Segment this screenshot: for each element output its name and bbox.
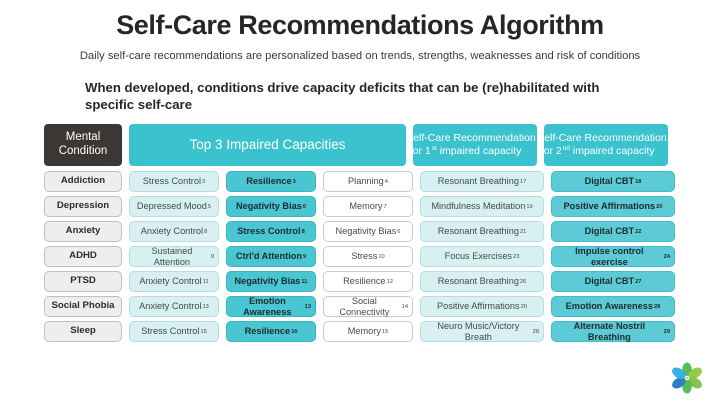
capacity-cell-3[interactable]: Memory7 — [323, 196, 413, 217]
table-row: Social PhobiaAnxiety Control13Emotion Aw… — [44, 296, 684, 317]
cell-label: Stress — [351, 251, 377, 261]
cell-label: Digital CBT — [585, 176, 635, 186]
capacity-cell-3[interactable]: Stress10 — [323, 246, 413, 267]
recommendation-cell-2[interactable]: Digital CBT22 — [551, 221, 675, 242]
capacity-cell-3[interactable]: Planning4 — [323, 171, 413, 192]
cell-label: Anxiety Control — [141, 226, 203, 236]
header-mental-condition-line1: Mental — [66, 131, 101, 143]
header-rec2-line1: Self-Care Recommendation — [537, 132, 667, 144]
capacity-cell-2[interactable]: Emotion Awareness13 — [226, 296, 316, 317]
cell-label: Positive Affirmations — [437, 301, 520, 311]
capacity-cell-3[interactable]: Negativity Bias6 — [323, 221, 413, 242]
table-body: AddictionStress Control3Resilience3Plann… — [44, 171, 684, 342]
cell-label: Impulse control exercise — [556, 246, 663, 267]
recommendation-cell-2[interactable]: Emotion Awareness28 — [551, 296, 675, 317]
condition-cell[interactable]: ADHD — [44, 246, 122, 267]
cell-label: Resilience — [245, 326, 290, 336]
cell-label: Focus Exercises — [445, 251, 512, 261]
cell-label: Neuro Music/Victory Breath — [425, 321, 532, 342]
header-self-care-rec-2: Self-Care Recommendation For 2nd impaire… — [544, 124, 668, 166]
cell-label: Memory — [348, 326, 381, 336]
cell-label: Planning — [348, 176, 384, 186]
recommendation-cell-1[interactable]: Resonant Breathing21 — [420, 221, 544, 242]
cell-label: Sustained Attention — [134, 246, 210, 267]
recommendation-cell-1[interactable]: Resonant Breathing26 — [420, 271, 544, 292]
condition-cell[interactable]: PTSD — [44, 271, 122, 292]
header-mental-condition: Mental Condition — [44, 124, 122, 166]
capacity-cell-2[interactable]: Resilience16 — [226, 321, 316, 342]
cell-label: Alternate Nostril Breathing — [556, 321, 663, 342]
cell-label: Anxiety Control — [139, 301, 201, 311]
capacity-cell-1[interactable]: Anxiety Control8 — [129, 221, 219, 242]
header-rec1-line2: For 1st impaired capacity — [406, 145, 521, 157]
recommendation-cell-1[interactable]: Neuro Music/Victory Breath28 — [420, 321, 544, 342]
cell-label: Negativity Bias — [336, 226, 397, 236]
condition-cell[interactable]: Depression — [44, 196, 122, 217]
header-top-3-impaired-capacities: Top 3 Impaired Capacities — [129, 124, 406, 166]
cell-label: Ctrl'd Attention — [236, 251, 302, 261]
table-row: PTSDAnxiety Control11Negativity Bias11Re… — [44, 271, 684, 292]
recommendation-cell-1[interactable]: Focus Exercises23 — [420, 246, 544, 267]
table-row: DepressionDepressed Mood5Negativity Bias… — [44, 196, 684, 217]
capacity-cell-3[interactable]: Resilience12 — [323, 271, 413, 292]
table-header-row: Mental Condition Top 3 Impaired Capaciti… — [44, 124, 684, 166]
page-subtitle: Daily self-care recommendations are pers… — [0, 50, 720, 62]
table-row: AddictionStress Control3Resilience3Plann… — [44, 171, 684, 192]
section-headline: When developed, conditions drive capacit… — [85, 80, 625, 114]
capacity-cell-1[interactable]: Stress Control15 — [129, 321, 219, 342]
capacity-cell-3[interactable]: Social Connectivity14 — [323, 296, 413, 317]
cell-label: Digital CBT — [585, 276, 635, 286]
capacity-cell-1[interactable]: Sustained Attention9 — [129, 246, 219, 267]
capacity-cell-1[interactable]: Stress Control3 — [129, 171, 219, 192]
cell-label: Negativity Bias — [236, 201, 302, 211]
capacity-cell-1[interactable]: Anxiety Control13 — [129, 296, 219, 317]
flower-petal-logo — [668, 361, 706, 395]
cell-label: Positive Affirmations — [564, 201, 656, 211]
condition-cell[interactable]: Addiction — [44, 171, 122, 192]
capacity-cell-1[interactable]: Depressed Mood5 — [129, 196, 219, 217]
table-row: ADHDSustained Attention9Ctrl'd Attention… — [44, 246, 684, 267]
cell-label: Memory — [349, 201, 382, 211]
recommendation-cell-2[interactable]: Digital CBT18 — [551, 171, 675, 192]
recommendation-cell-1[interactable]: Mindfulness Meditation19 — [420, 196, 544, 217]
header-rec2-line2: For 2nd impaired capacity — [537, 145, 654, 157]
cell-label: Negativity Bias — [235, 276, 301, 286]
cell-label: Resilience — [343, 276, 385, 286]
condition-cell[interactable]: Social Phobia — [44, 296, 122, 317]
capacity-cell-2[interactable]: Ctrl'd Attention9 — [226, 246, 316, 267]
table-row: AnxietyAnxiety Control8Stress Control8Ne… — [44, 221, 684, 242]
table-row: SleepStress Control15Resilience16Memory1… — [44, 321, 684, 342]
condition-cell[interactable]: Anxiety — [44, 221, 122, 242]
header-rec1-line1: Self-Care Recommendation — [406, 132, 536, 144]
capacity-cell-2[interactable]: Resilience3 — [226, 171, 316, 192]
recommendation-cell-1[interactable]: Resonant Breathing17 — [420, 171, 544, 192]
cell-label: Emotion Awareness — [231, 296, 304, 317]
cell-label: Emotion Awareness — [566, 301, 653, 311]
header-mental-condition-line2: Condition — [59, 145, 108, 157]
cell-label: Digital CBT — [585, 226, 635, 236]
capacity-cell-1[interactable]: Anxiety Control11 — [129, 271, 219, 292]
capacity-cell-2[interactable]: Stress Control8 — [226, 221, 316, 242]
cell-label: Mindfulness Meditation — [431, 201, 525, 211]
cell-label: Social Connectivity — [328, 296, 401, 317]
recommendation-cell-1[interactable]: Positive Affirmations20 — [420, 296, 544, 317]
cell-label: Resonant Breathing — [438, 226, 519, 236]
recommendation-cell-2[interactable]: Alternate Nostril Breathing29 — [551, 321, 675, 342]
slide-root: Self-Care Recommendations Algorithm Dail… — [0, 0, 720, 405]
capacity-cell-2[interactable]: Negativity Bias11 — [226, 271, 316, 292]
cell-label: Stress Control — [143, 176, 201, 186]
recommendations-table: Mental Condition Top 3 Impaired Capaciti… — [44, 124, 684, 346]
recommendation-cell-2[interactable]: Digital CBT27 — [551, 271, 675, 292]
cell-label: Stress Control — [141, 326, 199, 336]
recommendation-cell-2[interactable]: Positive Affirmations20 — [551, 196, 675, 217]
recommendation-cell-2[interactable]: Impulse control exercise24 — [551, 246, 675, 267]
condition-cell[interactable]: Sleep — [44, 321, 122, 342]
page-title: Self-Care Recommendations Algorithm — [0, 10, 720, 41]
capacity-cell-3[interactable]: Memory15 — [323, 321, 413, 342]
cell-label: Stress Control — [237, 226, 300, 236]
cell-label: Depressed Mood — [137, 201, 207, 211]
capacity-cell-2[interactable]: Negativity Bias6 — [226, 196, 316, 217]
cell-label: Resilience — [246, 176, 291, 186]
cell-label: Anxiety Control — [139, 276, 201, 286]
header-self-care-rec-1: Self-Care Recommendation For 1st impaire… — [413, 124, 537, 166]
cell-label: Resonant Breathing — [438, 276, 519, 286]
cell-label: Resonant Breathing — [438, 176, 519, 186]
